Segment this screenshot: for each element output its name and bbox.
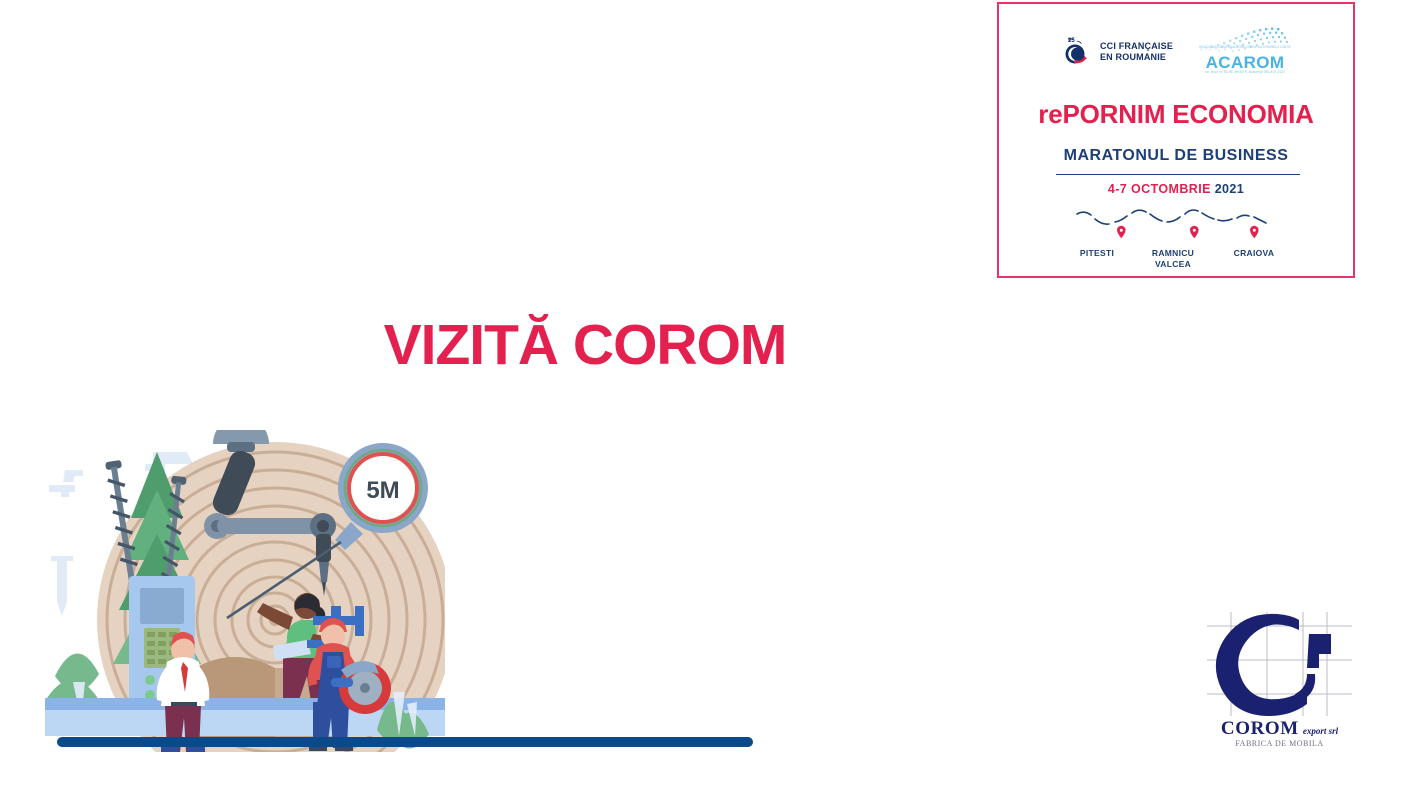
- corom-name: COROM: [1221, 718, 1299, 739]
- tape-measure-label: 5M: [366, 477, 399, 504]
- bottom-accent-bar: [57, 737, 753, 747]
- corom-monogram-icon: [1207, 612, 1352, 716]
- corom-tagline: FABRICA DE MOBILA: [1207, 739, 1352, 748]
- svg-text:25: 25: [1068, 38, 1075, 44]
- event-date-year: 2021: [1215, 182, 1244, 196]
- city-label: PITESTI: [1057, 248, 1137, 259]
- card-divider: [1056, 174, 1300, 175]
- event-headline: rePORNIM ECONOMIA: [999, 99, 1353, 130]
- corom-wordmark: COROMexport srl: [1207, 718, 1352, 740]
- corom-logo: COROMexport srl FABRICA DE MOBILA: [1207, 612, 1352, 752]
- cci-mark-icon: 25: [1061, 35, 1095, 69]
- acarom-micro-top: ASOCIATIA CONSTRUCTORILOR DE AUTOMOBILE …: [1199, 45, 1291, 49]
- cci-logo-text: CCI FRANÇAISE EN ROUMANIE: [1100, 41, 1173, 62]
- city-labels: PITESTI RAMNICU VALCEA CRAIOVA: [999, 248, 1353, 280]
- event-badge-card: 25 CCI FRANÇAISE EN ROUMANIE: [997, 2, 1355, 278]
- event-date-month: OCTOMBRIE: [1131, 182, 1211, 196]
- acarom-halftone-arc-icon: [1199, 27, 1291, 55]
- woodworking-illustration: 5M: [45, 430, 445, 752]
- corom-suffix: export srl: [1303, 726, 1338, 736]
- route-map: PITESTI RAMNICU VALCEA CRAIOVA: [999, 200, 1353, 280]
- city-label: CRAIOVA: [1214, 248, 1294, 259]
- event-date-days: 4-7: [1108, 182, 1127, 196]
- city-label: RAMNICU VALCEA: [1133, 248, 1213, 269]
- acarom-logo: ASOCIATIA CONSTRUCTORILOR DE AUTOMOBILE …: [1199, 27, 1291, 77]
- acarom-micro-bottom: str. lzvor nr. 92-96, sector 5, Bucurest…: [1199, 70, 1291, 74]
- card-logos-row: 25 CCI FRANÇAISE EN ROUMANIE: [999, 26, 1353, 78]
- event-subheadline: MARATONUL DE BUSINESS: [999, 147, 1353, 165]
- map-pins: [1117, 226, 1259, 239]
- event-date: 4-7 OCTOMBRIE 2021: [999, 182, 1353, 196]
- slide-title: VIZITĂ COROM: [0, 312, 1170, 378]
- cci-francaise-logo: 25 CCI FRANÇAISE EN ROUMANIE: [1061, 35, 1173, 69]
